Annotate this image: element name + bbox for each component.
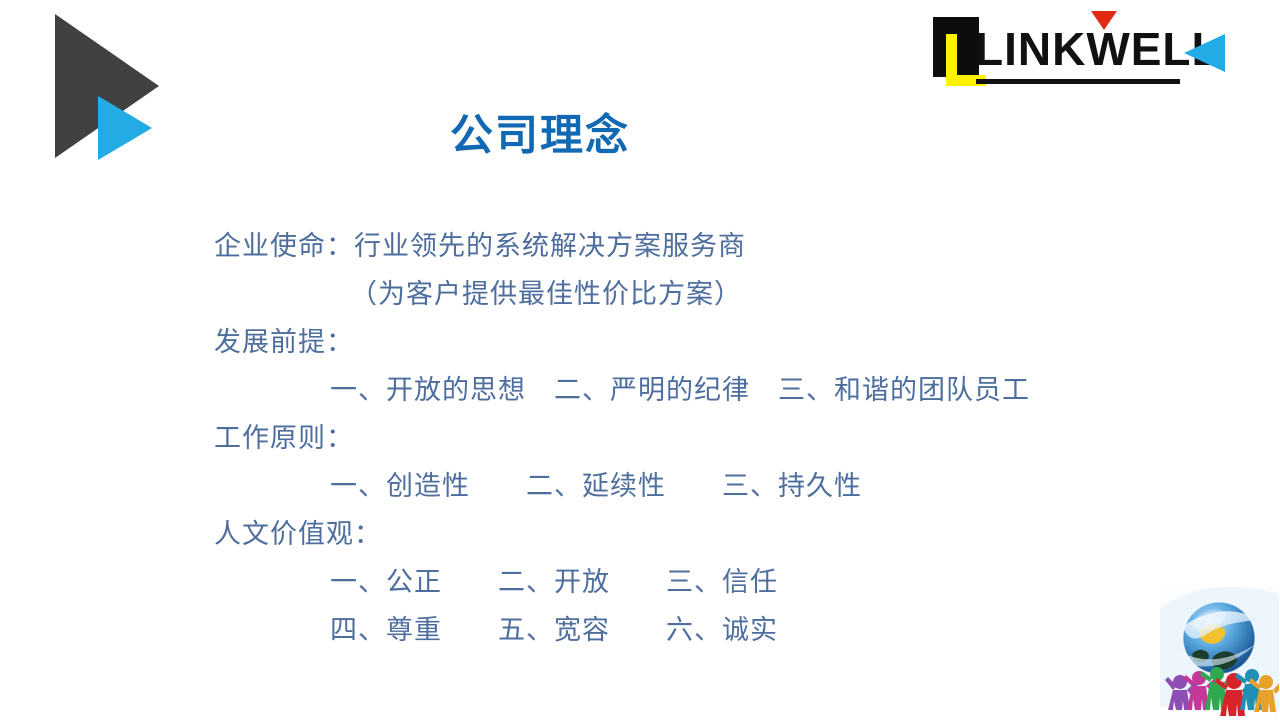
globe-people-icon: [1160, 586, 1279, 720]
text-line-values-label: 人文价值观：: [214, 510, 1114, 558]
text-line-principle-label: 工作原则：: [214, 414, 1114, 462]
text-line-premise-label: 发展前提：: [214, 318, 1114, 366]
globe-people-artwork: [1160, 586, 1279, 720]
text-line-premise-items: 一、开放的思想 二、严明的纪律 三、和谐的团队员工: [214, 366, 1114, 414]
text-line-mission-label: 企业使命：行业领先的系统解决方案服务商: [214, 222, 1114, 270]
company-logo: LINKWELL: [928, 8, 1233, 88]
text-line-principle-items: 一、创造性 二、延续性 三、持久性: [214, 462, 1114, 510]
logo-underline-rule: [976, 79, 1180, 84]
text-line-values-items-2: 四、尊重 五、宽容 六、诚实: [214, 606, 1114, 654]
blue-left-triangle-icon: [1184, 34, 1225, 72]
logo-badge-square: [933, 17, 979, 77]
text-line-values-items-1: 一、公正 二、开放 三、信任: [214, 558, 1114, 606]
text-line-mission-sub: （为客户提供最佳性价比方案）: [214, 270, 1114, 318]
page-title: 公司理念: [0, 108, 1080, 164]
slide-canvas: LINKWELL 公司理念 企业使命：行业领先的系统解决方案服务商 （为客户提供…: [0, 0, 1280, 720]
content-body: 企业使命：行业领先的系统解决方案服务商 （为客户提供最佳性价比方案） 发展前提：…: [214, 222, 1114, 654]
